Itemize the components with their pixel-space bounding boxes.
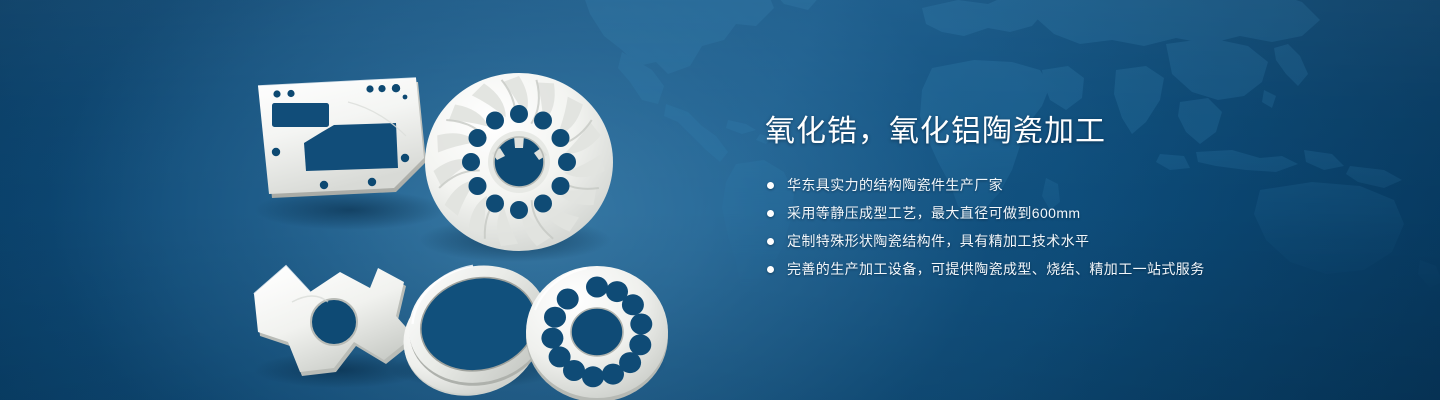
ceramic-perforated-disc: [526, 266, 668, 400]
banner-copy: 氧化锆，氧化铝陶瓷加工 华东具实力的结构陶瓷件生产厂家 采用等静压成型工艺，最大…: [765, 112, 1385, 286]
page-title: 氧化锆，氧化铝陶瓷加工: [765, 112, 1385, 152]
bullet-dot-icon: [767, 238, 774, 245]
list-item-label: 定制特殊形状陶瓷结构件，具有精加工技术水平: [787, 230, 1089, 253]
list-item: 完善的生产加工设备，可提供陶瓷成型、烧结、精加工一站式服务: [767, 258, 1385, 281]
list-item: 采用等静压成型工艺，最大直径可做到600mm: [767, 202, 1385, 225]
list-item-label: 完善的生产加工设备，可提供陶瓷成型、烧结、精加工一站式服务: [787, 258, 1205, 281]
list-item-label: 华东具实力的结构陶瓷件生产厂家: [787, 174, 1003, 197]
bullet-dot-icon: [767, 210, 774, 217]
list-item-label: 采用等静压成型工艺，最大直径可做到600mm: [787, 202, 1080, 225]
feature-list: 华东具实力的结构陶瓷件生产厂家 采用等静压成型工艺，最大直径可做到600mm 定…: [767, 174, 1385, 281]
ceramic-products-image: [230, 40, 700, 380]
ceramic-processing-banner: 氧化锆，氧化铝陶瓷加工 华东具实力的结构陶瓷件生产厂家 采用等静压成型工艺，最大…: [0, 0, 1440, 400]
list-item: 华东具实力的结构陶瓷件生产厂家: [767, 174, 1385, 197]
ceramic-mounting-plate: [258, 78, 426, 198]
bullet-dot-icon: [767, 266, 774, 273]
ceramic-vaned-impeller: [425, 73, 613, 251]
list-item: 定制特殊形状陶瓷结构件，具有精加工技术水平: [767, 230, 1385, 253]
bullet-dot-icon: [767, 182, 774, 189]
